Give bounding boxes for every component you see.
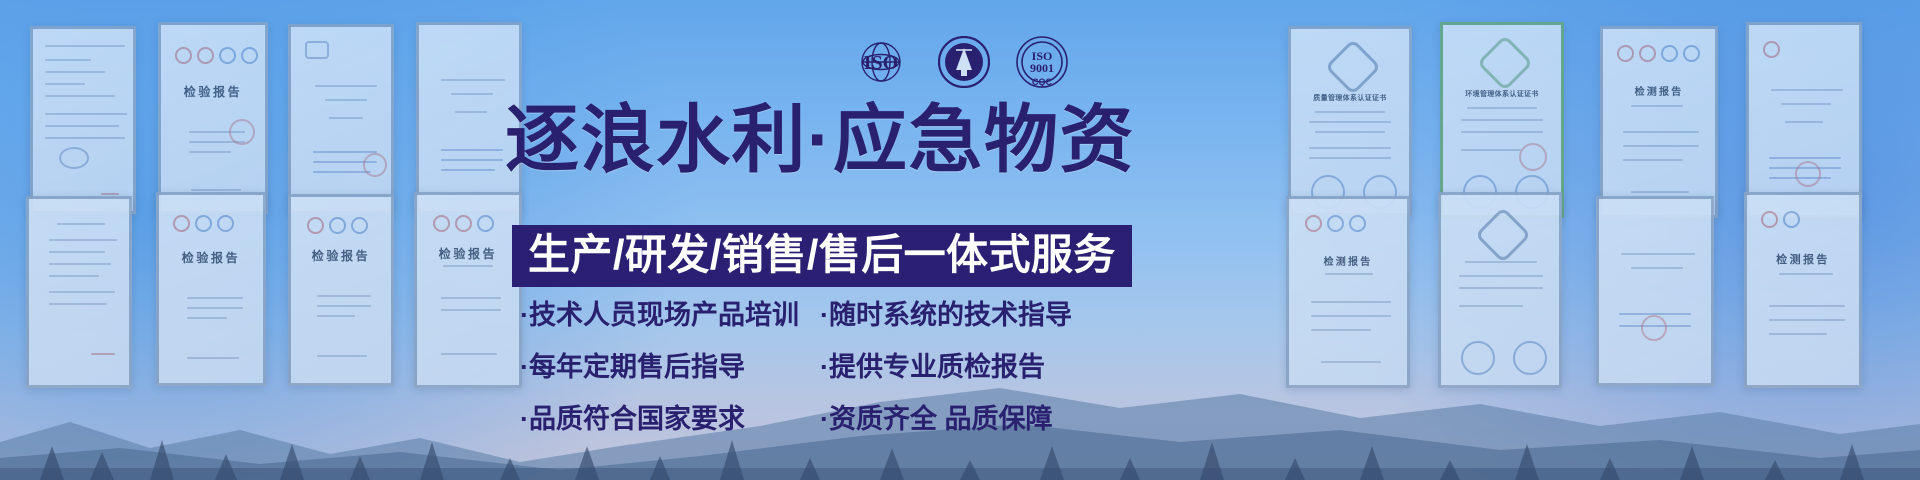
feature-item: ·随时系统的技术指导	[820, 296, 1112, 334]
iso9000-seal-badge-icon	[938, 36, 990, 88]
iso9001-bottom-label: 9001	[1030, 61, 1054, 75]
feature-item: ·提供专业质检报告	[820, 348, 1112, 386]
banner-content: ISO ISO 9001 CQC 逐浪水利·应急物资 生产/研发/销售/售后一体	[0, 0, 1920, 480]
feature-item: ·技术人员现场产品培训	[520, 296, 812, 334]
feature-list: ·技术人员现场产品培训 ·随时系统的技术指导 ·每年定期售后指导 ·提供专业质检…	[520, 296, 1320, 438]
feature-item: ·资质齐全 品质保障	[820, 400, 1112, 438]
page-title: 逐浪水利·应急物资	[505, 100, 1305, 180]
subtitle-badge: 生产/研发/销售/售后一体式服务	[512, 225, 1132, 287]
certification-badge-group: ISO ISO 9001 CQC	[850, 34, 1100, 90]
subtitle-text: 生产/研发/销售/售后一体式服务	[528, 231, 1116, 278]
cqc-mark-label: CQC	[1032, 77, 1053, 87]
iso9001-cqc-badge-icon: ISO 9001 CQC	[1016, 36, 1068, 88]
feature-item: ·品质符合国家要求	[520, 400, 812, 438]
iso-globe-badge-icon: ISO	[850, 41, 912, 83]
iso-badge-label: ISO	[864, 52, 898, 74]
promo-banner: 检验报告	[0, 0, 1920, 480]
feature-item: ·每年定期售后指导	[520, 348, 812, 386]
